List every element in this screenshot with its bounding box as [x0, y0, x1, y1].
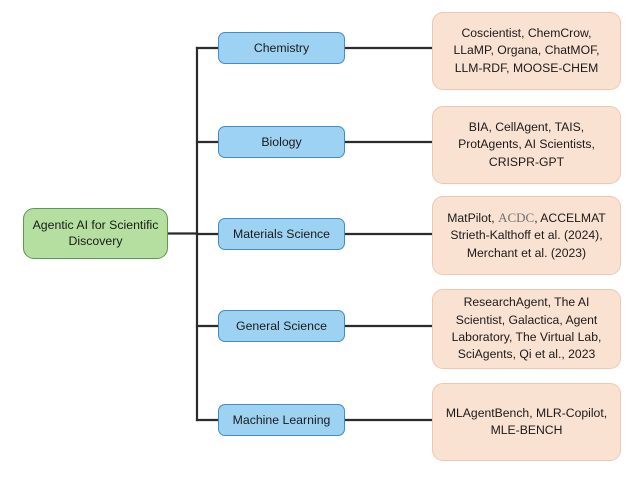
root-node-label: Agentic AI for Scientific Discovery	[30, 218, 161, 249]
examples-node-label: Coscientist, ChemCrow, LLaMP, Organa, Ch…	[442, 25, 611, 77]
examples-token-highlight: ACDC	[498, 210, 534, 225]
domain-node-biology: Biology	[218, 126, 345, 158]
domain-node-label: Biology	[261, 135, 301, 150]
domain-node-label: Materials Science	[233, 227, 330, 242]
examples-node-materials-science: MatPilot, ACDC, ACCELMAT Strieth-Kalthof…	[432, 196, 621, 275]
examples-node-label: BIA, CellAgent, TAIS, ProtAgents, AI Sci…	[442, 119, 611, 171]
examples-token: Coscientist, ChemCrow, LLaMP, Organa, Ch…	[453, 26, 599, 75]
domain-node-machine-learning: Machine Learning	[218, 404, 345, 436]
examples-token: MLAgentBench, MLR-Copilot, MLE-BENCH	[446, 406, 607, 437]
examples-node-machine-learning: MLAgentBench, MLR-Copilot, MLE-BENCH	[432, 383, 621, 461]
domain-node-label: Chemistry	[254, 41, 309, 56]
examples-node-label: ResearchAgent, The AI Scientist, Galacti…	[442, 294, 611, 364]
examples-token: BIA, CellAgent, TAIS, ProtAgents, AI Sci…	[458, 120, 595, 169]
examples-token: ResearchAgent, The AI Scientist, Galacti…	[452, 295, 602, 361]
examples-node-general-science: ResearchAgent, The AI Scientist, Galacti…	[432, 289, 621, 369]
examples-token: MatPilot,	[447, 211, 498, 225]
examples-node-label: MLAgentBench, MLR-Copilot, MLE-BENCH	[442, 405, 611, 440]
examples-node-chemistry: Coscientist, ChemCrow, LLaMP, Organa, Ch…	[432, 12, 621, 90]
domain-node-label: Machine Learning	[233, 413, 331, 428]
domain-node-general-science: General Science	[218, 310, 345, 342]
agentic-ai-taxonomy-diagram: Agentic AI for Scientific Discovery Chem…	[0, 0, 632, 500]
examples-node-biology: BIA, CellAgent, TAIS, ProtAgents, AI Sci…	[432, 106, 621, 184]
examples-node-label: MatPilot, ACDC, ACCELMAT Strieth-Kalthof…	[442, 209, 611, 262]
domain-node-label: General Science	[236, 319, 327, 334]
domain-node-chemistry: Chemistry	[218, 32, 345, 64]
root-node-agentic-ai: Agentic AI for Scientific Discovery	[23, 208, 168, 259]
domain-node-materials-science: Materials Science	[218, 218, 345, 250]
